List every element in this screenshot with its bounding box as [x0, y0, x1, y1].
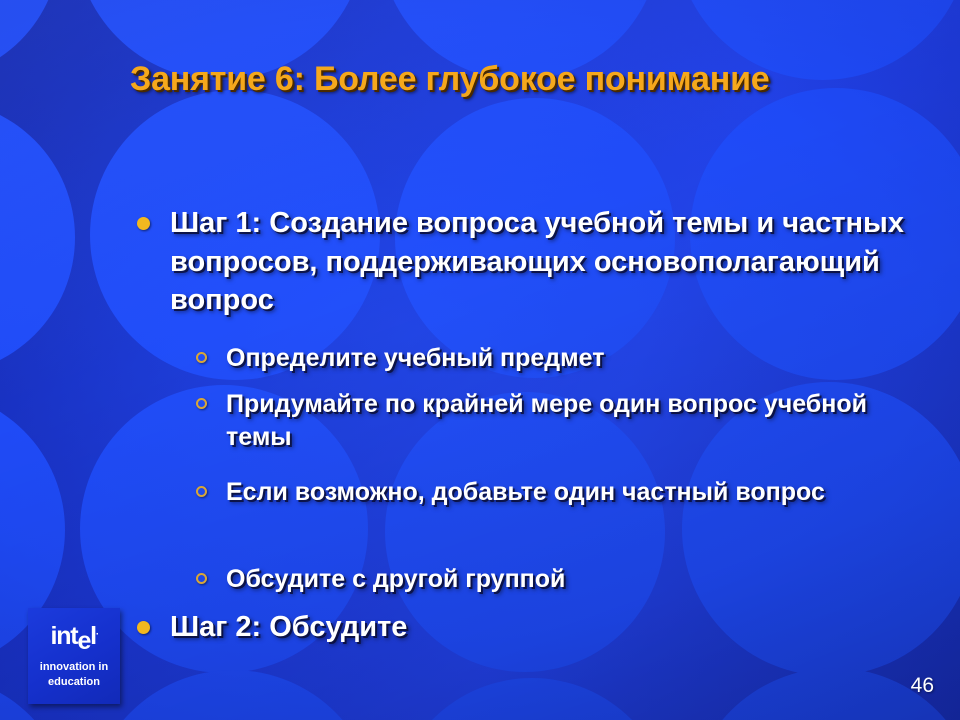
page-number: 46	[911, 674, 934, 698]
intel-tagline: innovation in education	[28, 660, 120, 690]
list-item: Шаг 2: Обсудите	[132, 608, 932, 647]
list-item-label: Определите учебный предмет	[226, 344, 605, 372]
filled-circle-bullet-icon	[137, 217, 150, 230]
list-item-label: Если возможно, добавьте один частный воп…	[226, 478, 825, 506]
hollow-circle-bullet-icon	[196, 573, 207, 584]
intel-wordmark: intel.	[28, 624, 120, 649]
list-item: Шаг 1: Создание вопроса учебной темы и ч…	[132, 204, 932, 320]
hollow-circle-bullet-icon	[196, 352, 207, 363]
list-item: Если возможно, добавьте один частный воп…	[192, 476, 932, 509]
list-item: Обсудите с другой группой	[192, 563, 932, 596]
presentation-slide: Занятие 6: Более глубокое понимание Шаг …	[0, 0, 960, 720]
filled-circle-bullet-icon	[137, 621, 150, 634]
intel-logo: intel. innovation in education	[28, 608, 120, 704]
list-item: Придумайте по крайней мере один вопрос у…	[192, 388, 932, 454]
list-item-label: Шаг 1: Создание вопроса учебной темы и ч…	[170, 207, 904, 316]
list-item-label: Шаг 2: Обсудите	[170, 611, 407, 643]
hollow-circle-bullet-icon	[196, 486, 207, 497]
intel-tagline-line1: innovation in	[28, 660, 120, 675]
slide-body-list: Шаг 1: Создание вопроса учебной темы и ч…	[0, 0, 960, 720]
list-item-label: Придумайте по крайней мере один вопрос у…	[226, 390, 867, 451]
hollow-circle-bullet-icon	[196, 398, 207, 409]
list-item: Определите учебный предмет	[192, 342, 932, 375]
intel-wordmark-dropped-e: e	[77, 629, 90, 654]
list-item-label: Обсудите с другой группой	[226, 565, 565, 593]
intel-wordmark-part1: int	[50, 622, 77, 650]
intel-registered-mark: .	[96, 627, 98, 638]
intel-tagline-line2: education	[28, 675, 120, 690]
